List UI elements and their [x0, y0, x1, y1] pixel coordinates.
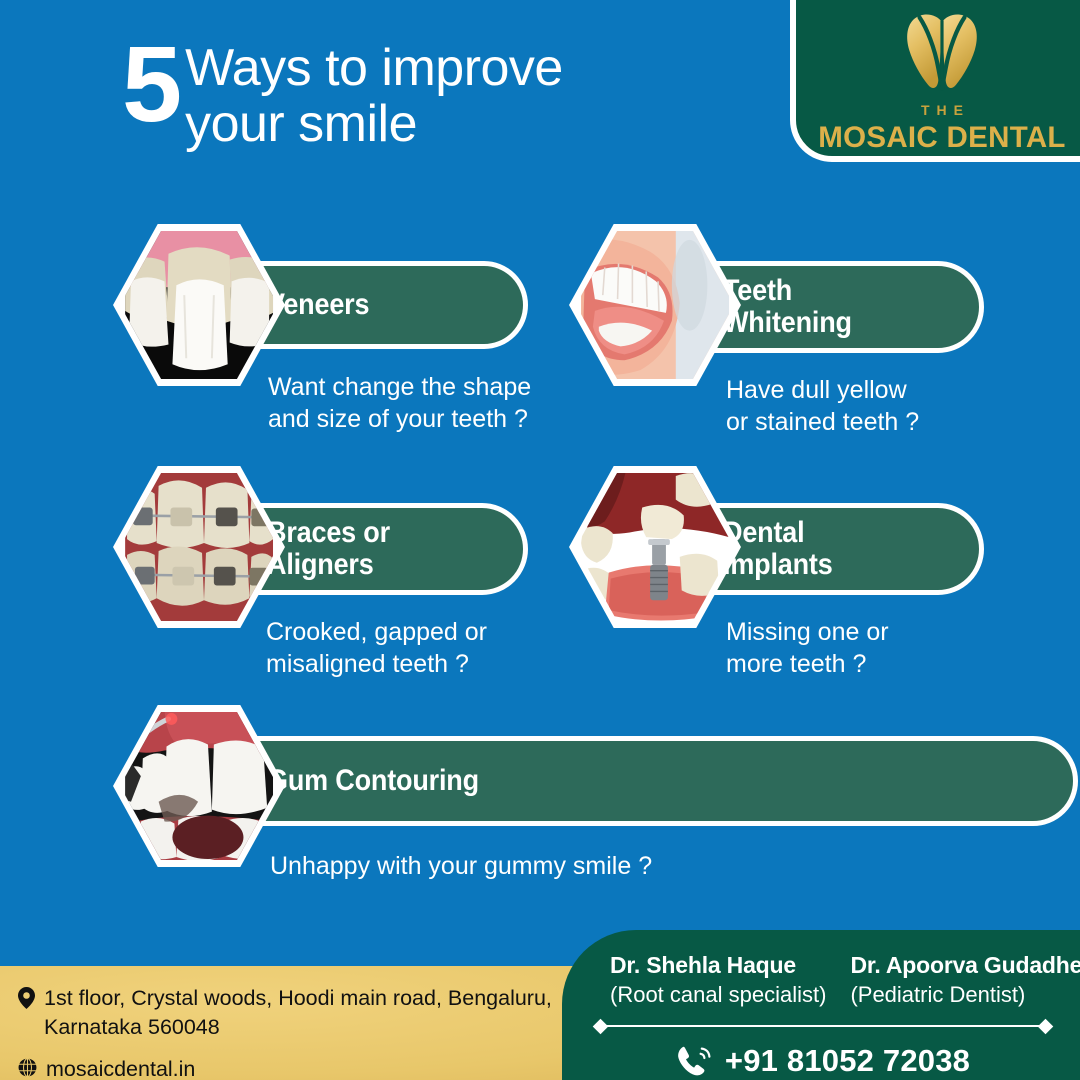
footer-doctors-panel: Dr. Shehla Haque (Root canal specialist)…	[562, 930, 1080, 1080]
address-text: 1st floor, Crystal woods, Hoodi main roa…	[44, 984, 552, 1042]
doctor-name: Dr. Shehla Haque	[610, 952, 826, 979]
phone-number: +91 81052 72038	[725, 1043, 970, 1079]
card-image-hexagon	[118, 219, 280, 391]
diamond-left-icon	[593, 1018, 609, 1034]
card-image-hexagon	[574, 461, 736, 633]
logo-brand-name: MOSAIC DENTAL	[818, 121, 1066, 155]
card-label: Teeth Whitening	[723, 275, 852, 339]
page-title: 5 Ways to improve your smile	[122, 34, 563, 152]
card-braces-or-aligners[interactable]: Braces or Aligners	[118, 461, 538, 676]
diamond-right-icon	[1038, 1018, 1054, 1034]
logo-the-text: THE	[914, 102, 970, 118]
doctor-entry: Dr. Apoorva Gudadhe (Pediatric Dentist)	[850, 952, 1080, 1008]
phone-ringing-icon	[676, 1044, 712, 1078]
brand-logo-panel: THE MOSAIC DENTAL	[790, 0, 1080, 162]
doctor-role: (Root canal specialist)	[610, 982, 826, 1008]
doctors-list: Dr. Shehla Haque (Root canal specialist)…	[584, 952, 1062, 1008]
title-line-1: Ways to improve	[185, 40, 563, 96]
card-label-pill: Gum Contouring	[206, 736, 1078, 826]
footer-contact-block: 1st floor, Crystal woods, Hoodi main roa…	[18, 984, 552, 1080]
card-caption: Crooked, gapped or misaligned teeth ?	[266, 616, 487, 680]
footer-divider	[595, 1020, 1051, 1032]
website-row[interactable]: mosaicdental.in	[18, 1055, 552, 1080]
title-line-2: your smile	[185, 96, 563, 152]
card-caption: Have dull yellow or stained teeth ?	[726, 374, 919, 438]
card-label: Braces or Aligners	[267, 517, 390, 581]
title-text: Ways to improve your smile	[185, 34, 563, 152]
phone-row[interactable]: +91 81052 72038	[584, 1043, 1062, 1079]
card-caption: Missing one or more teeth ?	[726, 616, 889, 680]
card-veneers[interactable]: Veneers Want change the shape an	[118, 219, 538, 434]
card-gum-contouring[interactable]: Gum Contouring	[118, 700, 958, 900]
doctor-role: (Pediatric Dentist)	[850, 982, 1080, 1008]
globe-icon	[18, 1058, 37, 1077]
doctor-entry: Dr. Shehla Haque (Root canal specialist)	[610, 952, 826, 1008]
card-label: Gum Contouring	[267, 765, 479, 797]
card-dental-implants[interactable]: Dental Implants	[574, 461, 994, 676]
address-row: 1st floor, Crystal woods, Hoodi main roa…	[18, 984, 552, 1042]
card-teeth-whitening[interactable]: Teeth Whitening	[574, 219, 994, 434]
tooth-mosaic-logo-icon	[894, 10, 990, 96]
doctor-name: Dr. Apoorva Gudadhe	[850, 952, 1080, 979]
location-pin-icon	[18, 987, 35, 1009]
card-caption: Want change the shape and size of your t…	[268, 371, 531, 435]
card-image-hexagon	[118, 700, 280, 872]
card-caption: Unhappy with your gummy smile ?	[270, 850, 652, 882]
infographic-poster: 5 Ways to improve your smile THE MOSAIC …	[0, 0, 1080, 1080]
website-text: mosaicdental.in	[46, 1055, 195, 1080]
card-image-hexagon	[574, 219, 736, 391]
title-number: 5	[122, 34, 179, 133]
card-image-hexagon	[118, 461, 280, 633]
divider-line	[606, 1025, 1040, 1028]
